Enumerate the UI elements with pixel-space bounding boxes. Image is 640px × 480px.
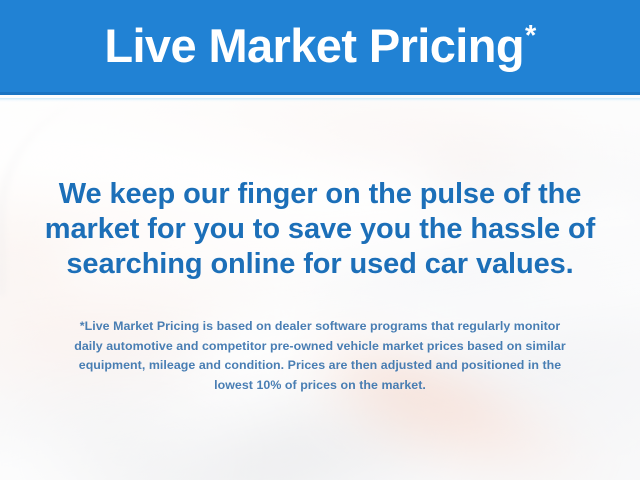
disclaimer-line-1: *Live Market Pricing is based on dealer …	[20, 317, 620, 337]
banner-title-text: Live Market Pricing	[104, 19, 524, 72]
banner-title-asterisk: *	[525, 20, 536, 52]
headline-line-1: We keep our finger on the pulse of the	[20, 177, 620, 212]
banner-title: Live Market Pricing*	[104, 22, 535, 71]
disclaimer-line-4: lowest 10% of prices on the market.	[20, 376, 620, 396]
live-market-pricing-slide: We keep our finger on the pulse of the m…	[0, 0, 640, 480]
disclaimer-line-2: daily automotive and competitor pre-owne…	[20, 337, 620, 357]
disclaimer-line-3: equipment, mileage and condition. Prices…	[20, 356, 620, 376]
headline-line-2: market for you to save you the hassle of	[20, 212, 620, 247]
headline-block: We keep our finger on the pulse of the m…	[20, 177, 620, 282]
disclaimer-block: *Live Market Pricing is based on dealer …	[20, 317, 620, 395]
header-banner: Live Market Pricing*	[0, 0, 640, 95]
banner-underglow	[0, 98, 640, 102]
content-area: We keep our finger on the pulse of the m…	[0, 95, 640, 480]
headline-line-3: searching online for used car values.	[20, 247, 620, 282]
